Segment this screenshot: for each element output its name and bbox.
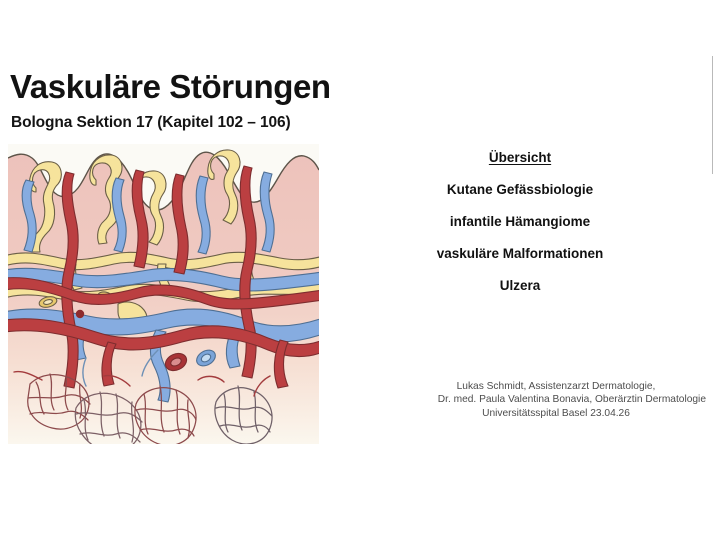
page-title: Vaskuläre Störungen: [10, 68, 331, 106]
slide-edge-rule: [712, 56, 713, 174]
page-subtitle: Bologna Sektion 17 (Kapitel 102 – 106): [11, 114, 291, 132]
overview-item-ulzera: Ulzera: [380, 278, 660, 293]
overview-item-vaskulaere-malformationen: vaskuläre Malformationen: [380, 246, 660, 261]
overview-item-kutane-gefaessbiologie: Kutane Gefässbiologie: [380, 182, 660, 197]
cutaneous-vascular-anatomy-illustration: [8, 144, 319, 444]
overview-item-infantile-haemangiome: infantile Hämangiome: [380, 214, 660, 229]
authors-footer: Lukas Schmidt, Assistenzarzt Dermatologi…: [406, 380, 706, 420]
footer-author-line-1: Lukas Schmidt, Assistenzarzt Dermatologi…: [406, 380, 706, 393]
overview-block: Übersicht Kutane Gefässbiologie infantil…: [380, 150, 660, 293]
overview-heading: Übersicht: [380, 150, 660, 165]
slide-root: Vaskuläre Störungen Bologna Sektion 17 (…: [0, 0, 720, 540]
footer-author-line-2: Dr. med. Paula Valentina Bonavia, Oberär…: [406, 393, 706, 406]
footer-institution-date: Universitätsspital Basel 23.04.26: [406, 407, 706, 420]
